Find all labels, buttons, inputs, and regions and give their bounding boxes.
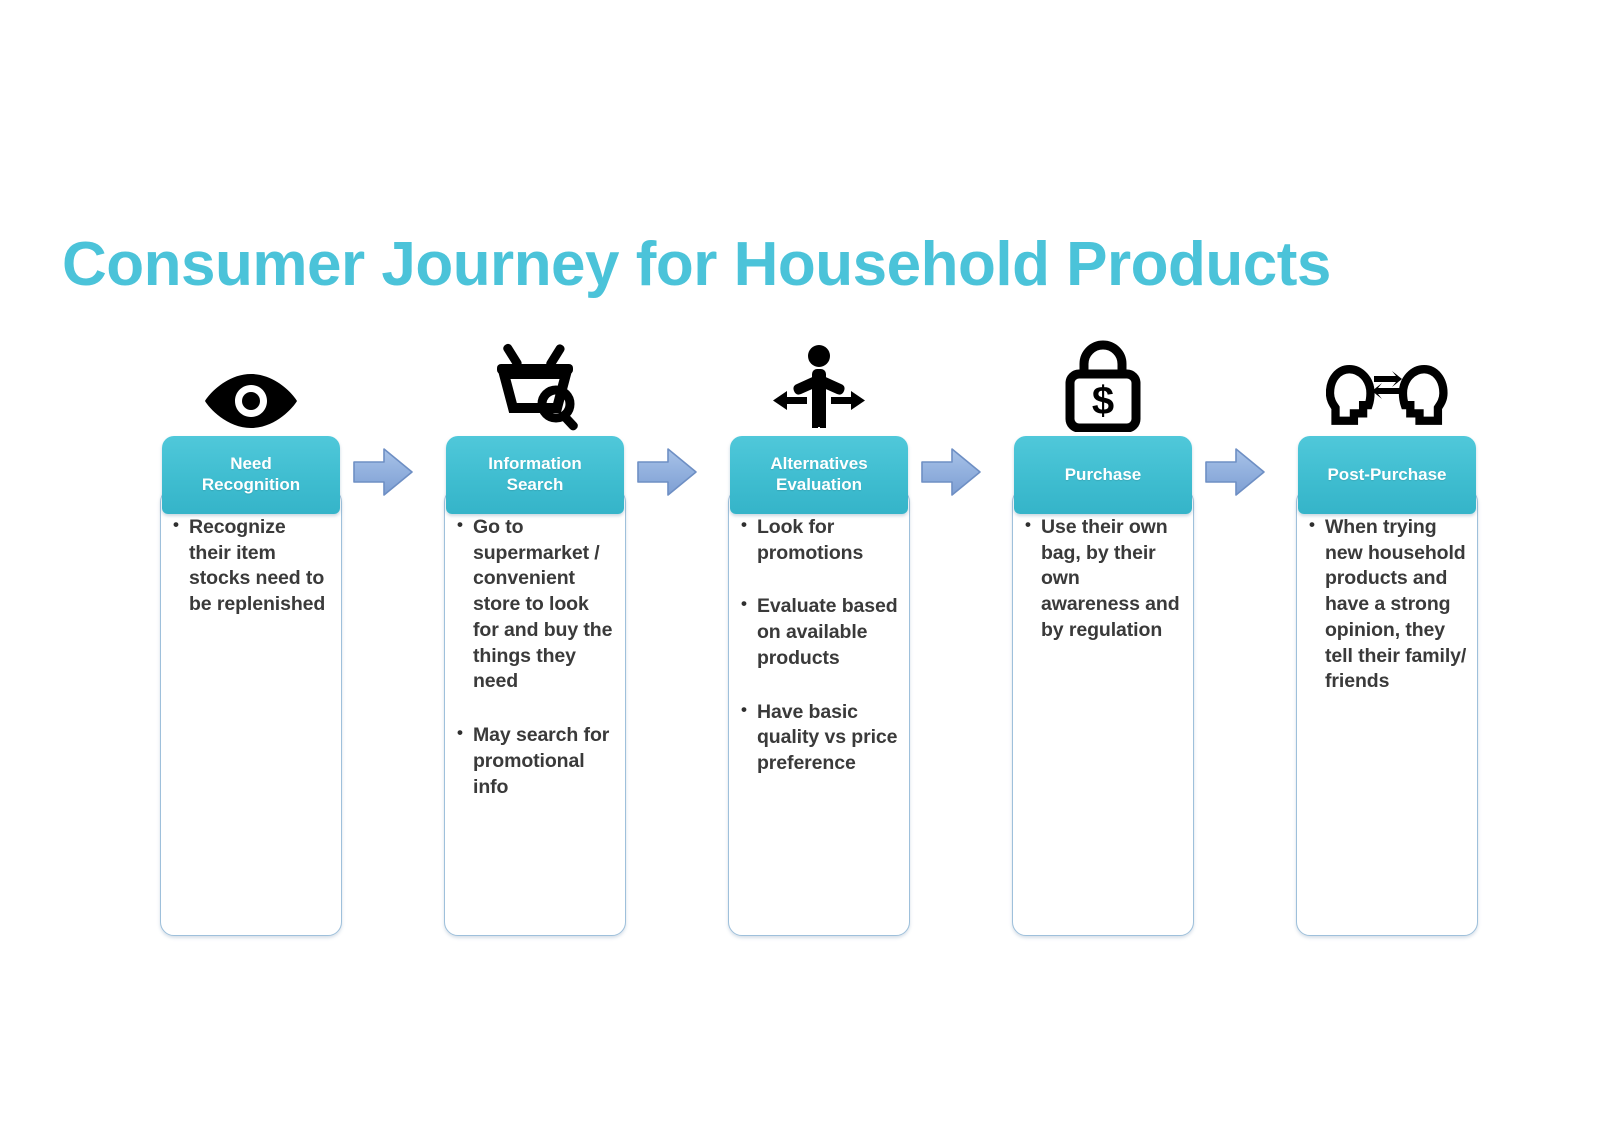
list-item: Recognize their item stocks need to be r… bbox=[189, 515, 331, 618]
stage-bullet-list: When trying new household products and h… bbox=[1305, 515, 1467, 695]
person-choice-arrows-icon bbox=[728, 336, 910, 436]
stage-body-alternatives-evaluation: Look for promotionsEvaluate based on ava… bbox=[728, 488, 910, 936]
journey-stage-alternatives-evaluation[interactable]: Look for promotionsEvaluate based on ava… bbox=[728, 336, 910, 946]
stage-header-label: AlternativesEvaluation bbox=[764, 454, 873, 495]
stage-header-label: Purchase bbox=[1059, 465, 1148, 486]
journey-stage-need-recognition[interactable]: Recognize their item stocks need to be r… bbox=[160, 336, 342, 946]
stage-header-post-purchase[interactable]: Post-Purchase bbox=[1298, 436, 1476, 514]
svg-text:$: $ bbox=[1092, 379, 1114, 423]
stage-body-post-purchase: When trying new household products and h… bbox=[1296, 488, 1478, 936]
stage-bullet-list: Look for promotionsEvaluate based on ava… bbox=[737, 515, 899, 777]
journey-stages-row: Recognize their item stocks need to be r… bbox=[0, 336, 1600, 956]
journey-stage-purchase[interactable]: $ Use their own bag, by their own awaren… bbox=[1012, 336, 1194, 946]
journey-stage-information-search[interactable]: Go to supermarket / convenient store to … bbox=[444, 336, 626, 946]
next-stage-arrow bbox=[352, 446, 414, 498]
next-stage-arrow bbox=[1204, 446, 1266, 498]
stage-header-label: NeedRecognition bbox=[196, 454, 306, 495]
stage-body-information-search: Go to supermarket / convenient store to … bbox=[444, 488, 626, 936]
stage-header-need-recognition[interactable]: NeedRecognition bbox=[162, 436, 340, 514]
stage-card-purchase: Use their own bag, by their own awarenes… bbox=[1012, 436, 1194, 936]
stage-bullet-list: Recognize their item stocks need to be r… bbox=[169, 515, 331, 618]
stage-header-purchase[interactable]: Purchase bbox=[1014, 436, 1192, 514]
stage-body-need-recognition: Recognize their item stocks need to be r… bbox=[160, 488, 342, 936]
padlock-dollar-icon: $ bbox=[1012, 336, 1194, 436]
stage-body-purchase: Use their own bag, by their own awarenes… bbox=[1012, 488, 1194, 936]
list-item: Evaluate based on available products bbox=[757, 594, 899, 671]
stage-card-need-recognition: Recognize their item stocks need to be r… bbox=[160, 436, 342, 936]
list-item: Have basic quality vs price preference bbox=[757, 700, 899, 777]
stage-card-information-search: Go to supermarket / convenient store to … bbox=[444, 436, 626, 936]
next-stage-arrow bbox=[920, 446, 982, 498]
page-title: Consumer Journey for Household Products bbox=[62, 234, 1462, 296]
list-item: Look for promotions bbox=[757, 515, 899, 566]
list-item: May search for promotional info bbox=[473, 723, 615, 800]
two-heads-word-of-mouth-icon bbox=[1296, 336, 1478, 436]
eye-icon bbox=[160, 336, 342, 436]
stage-bullet-list: Use their own bag, by their own awarenes… bbox=[1021, 515, 1183, 644]
stage-card-post-purchase: When trying new household products and h… bbox=[1296, 436, 1478, 936]
list-item: When trying new household products and h… bbox=[1325, 515, 1467, 695]
stage-header-alternatives-evaluation[interactable]: AlternativesEvaluation bbox=[730, 436, 908, 514]
next-stage-arrow bbox=[636, 446, 698, 498]
journey-stage-post-purchase[interactable]: When trying new household products and h… bbox=[1296, 336, 1478, 946]
stage-bullet-list: Go to supermarket / convenient store to … bbox=[453, 515, 615, 800]
basket-search-icon bbox=[444, 336, 626, 436]
stage-header-label: InformationSearch bbox=[482, 454, 588, 495]
list-item: Use their own bag, by their own awarenes… bbox=[1041, 515, 1183, 644]
stage-card-alternatives-evaluation: Look for promotionsEvaluate based on ava… bbox=[728, 436, 910, 936]
stage-header-label: Post-Purchase bbox=[1321, 465, 1452, 486]
list-item: Go to supermarket / convenient store to … bbox=[473, 515, 615, 695]
stage-header-information-search[interactable]: InformationSearch bbox=[446, 436, 624, 514]
